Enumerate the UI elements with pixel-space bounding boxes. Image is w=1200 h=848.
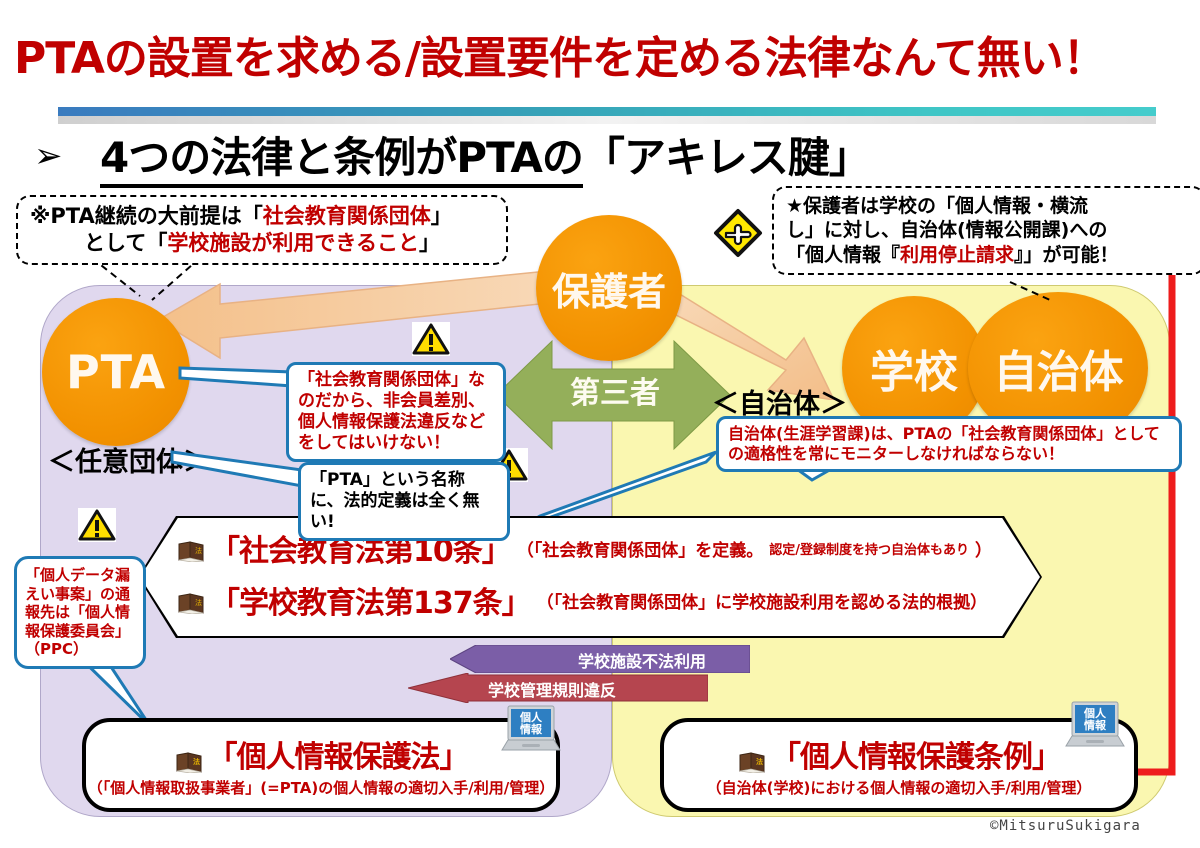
callout-text: 』」が可能！	[1014, 244, 1119, 266]
callout-use-suspension-request: ★保護者は学校の「個人情報・横流 し」に対し、自治体(情報公開課)への 「個人情…	[772, 186, 1200, 275]
law-book-icon: 法	[176, 592, 206, 614]
callout-text: 」	[431, 204, 452, 228]
law-note-c: ）	[975, 536, 992, 561]
callout-line: ★保護者は学校の「個人情報・横流	[786, 194, 1192, 218]
callout-text: 「個人情報『	[786, 244, 900, 266]
warning-triangle-icon	[412, 322, 450, 356]
callout-text: ※PTA継続の大前提は「	[30, 204, 263, 228]
subtitle-underlined: 4つの法律と条例がPTAの	[100, 133, 583, 188]
subtitle-quoted: 「アキレス腱」	[583, 133, 870, 182]
callout-line: ※PTA継続の大前提は「社会教育関係団体」	[30, 203, 494, 230]
callout-text: し」に対し、自治体(情報公開課)への	[786, 219, 1107, 241]
svg-text:個人: 個人	[1083, 706, 1107, 720]
svg-text:法: 法	[195, 598, 202, 607]
bottom-box-title: 「個人情報保護条例」	[771, 732, 1061, 776]
bottom-box-note: （「個人情報取扱事業者」(=PTA)の個人情報の適切入手/利用/管理）	[88, 777, 554, 798]
law-title: 「学校教育法第137条」	[210, 578, 531, 622]
callout-line: 「個人情報『利用停止請求』」が可能！	[786, 243, 1192, 267]
svg-text:法: 法	[756, 757, 763, 766]
third-party-label: 第三者	[535, 368, 695, 412]
bottom-box-title: 「個人情報保護法」	[208, 732, 469, 776]
law-book-icon: 法	[174, 746, 204, 768]
bottom-box-title-row: 法 「個人情報保護条例」	[737, 732, 1061, 776]
law-entry-row: 法 「学校教育法第137条」 （「社会教育関係団体」に学校施設利用を認める法的根…	[176, 578, 1076, 622]
callout-text-highlight: 利用停止請求	[900, 244, 1014, 266]
infographic-canvas: PTAの設置を求める/設置要件を定める法律なんて無い！ ➢ 4つの法律と条例がP…	[0, 0, 1200, 848]
bullet-arrow-icon: ➢	[34, 136, 63, 176]
callout-pta-no-legal-definition: 「PTA」という名称に、法的定義は全く無い!	[298, 462, 510, 541]
circle-hogosha: 保護者	[536, 215, 682, 361]
laptop-personal-info-icon: 個人 情報	[1064, 700, 1126, 752]
gradient-divider-shadow	[58, 116, 1156, 124]
callout-text-highlight: 学校施設が利用できること	[167, 231, 419, 255]
callout-pta-precondition: ※PTA継続の大前提は「社会教育関係団体」 として「学校施設が利用できること」	[16, 195, 508, 265]
svg-text:情報: 情報	[1084, 718, 1107, 732]
pointing-hand-diamond-icon	[712, 207, 764, 259]
bottom-box-note: （自治体(学校)における個人情報の適切入手/利用/管理）	[707, 777, 1092, 798]
callout-text: ★保護者は学校の「個人情報・横流	[786, 195, 1088, 217]
callout-text: として「	[84, 231, 167, 255]
callout-social-education-group-duty: 「社会教育関係団体」なのだから、非会員差別、個人情報保護法違反などをしてはいけな…	[286, 362, 506, 462]
laptop-personal-info-icon: 個人 情報	[500, 704, 562, 756]
svg-text:情報: 情報	[520, 722, 543, 736]
law-book-icon: 法	[176, 540, 206, 562]
callout-ppc-report-destination: 「個人データ漏えい事案」の通報先は「個人情報保護委員会」（PPC）	[14, 556, 146, 669]
label-voluntary-organization: ＜任意団体＞	[48, 440, 210, 479]
callout-municipality-monitoring-duty: 自治体(生涯学習課)は、PTAの「社会教育関係団体」としての適格性を常にモニター…	[716, 416, 1182, 472]
bottom-box-personal-info-law: 法 「個人情報保護法」 （「個人情報取扱事業者」(=PTA)の個人情報の適切入手…	[82, 718, 560, 812]
label-school-rule-violation: 学校管理規則違反	[488, 677, 616, 701]
gradient-divider-bar	[58, 107, 1156, 116]
warning-triangle-icon	[78, 508, 116, 542]
svg-text:法: 法	[195, 546, 202, 555]
callout-text: 」	[419, 231, 440, 255]
callout-line: として「学校施設が利用できること」	[30, 230, 494, 257]
svg-text:個人: 個人	[519, 710, 543, 724]
label-illegal-facility-use: 学校施設不法利用	[578, 648, 706, 672]
law-note-b: 認定/登録制度を持つ自治体もあり	[769, 539, 969, 558]
bottom-box-title-row: 法 「個人情報保護法」	[174, 732, 469, 776]
copyright-notice: ©MitsuruSukigara	[990, 818, 1141, 834]
law-note-a: （「社会教育関係団体」を定義。	[517, 536, 764, 561]
callout-line: し」に対し、自治体(情報公開課)への	[786, 218, 1192, 242]
callout-text-highlight: 社会教育関係団体	[263, 204, 431, 228]
page-subtitle: 4つの法律と条例がPTAの「アキレス腱」	[100, 124, 1190, 185]
circle-pta: PTA	[42, 298, 190, 446]
law-book-icon: 法	[737, 746, 767, 768]
law-note-a: （「社会教育関係団体」に学校施設利用を認める法的根拠）	[537, 588, 988, 613]
page-title: PTAの設置を求める/設置要件を定める法律なんて無い！	[14, 22, 1194, 86]
svg-text:法: 法	[193, 757, 200, 766]
